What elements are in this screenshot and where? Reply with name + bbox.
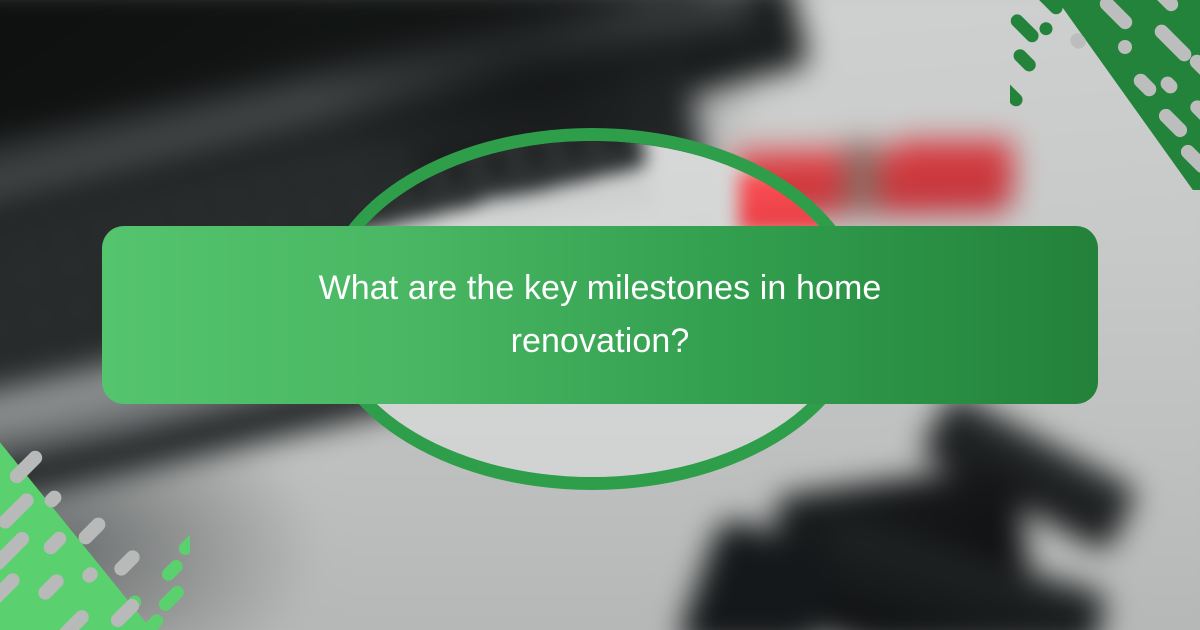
magnified-red-gap (845, 165, 853, 231)
question-banner: What are the key milestones in home reno… (102, 226, 1098, 404)
shadow-lower-left (0, 437, 324, 630)
question-text: What are the key milestones in home reno… (270, 262, 930, 367)
red-object-secondary (897, 140, 1014, 201)
magnified-red-object (739, 171, 853, 233)
social-card-canvas: What are the key milestones in home reno… (0, 0, 1200, 630)
